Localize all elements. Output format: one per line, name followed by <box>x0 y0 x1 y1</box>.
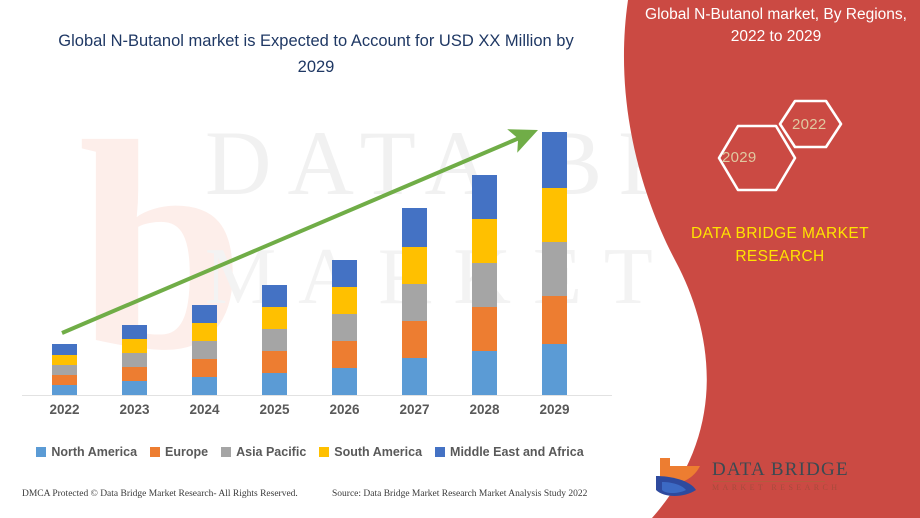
bar-segment-north-america-2022 <box>52 385 77 395</box>
legend-item-south-america[interactable]: South America <box>319 445 422 459</box>
hexagon-badges: 2029 2022 <box>700 96 880 192</box>
bar-segment-asia-pacific-2029 <box>542 242 567 296</box>
bar-2024[interactable] <box>192 305 217 395</box>
hex-label-2029: 2029 <box>722 149 757 166</box>
bar-segment-north-america-2025 <box>262 373 287 395</box>
data-bridge-logo: DATA BRIDGE MARKET RESEARCH <box>650 456 850 506</box>
legend-item-asia-pacific[interactable]: Asia Pacific <box>221 445 306 459</box>
bar-segment-europe-2026 <box>332 341 357 368</box>
x-label-2024: 2024 <box>170 402 240 417</box>
x-axis-baseline <box>22 395 612 396</box>
legend-swatch-south-america <box>319 447 329 457</box>
dmca-notice: DMCA Protected © Data Bridge Market Rese… <box>22 489 298 499</box>
bar-segment-middle-east-and-africa-2027 <box>402 208 427 247</box>
x-axis-labels: 20222023202420252026202720282029 <box>0 402 620 428</box>
bar-segment-europe-2024 <box>192 359 217 377</box>
legend-label-north-america: North America <box>51 445 137 459</box>
bar-segment-europe-2029 <box>542 296 567 344</box>
bar-segment-middle-east-and-africa-2022 <box>52 344 77 355</box>
bar-segment-europe-2023 <box>122 367 147 381</box>
bar-segment-south-america-2022 <box>52 355 77 365</box>
bar-segment-middle-east-and-africa-2025 <box>262 285 287 307</box>
bar-segment-south-america-2025 <box>262 307 287 329</box>
x-label-2027: 2027 <box>380 402 450 417</box>
footer: DMCA Protected © Data Bridge Market Rese… <box>0 485 620 509</box>
bar-2026[interactable] <box>332 260 357 395</box>
bar-segment-south-america-2029 <box>542 188 567 242</box>
bar-segment-middle-east-and-africa-2028 <box>472 175 497 219</box>
brand-line-2: RESEARCH <box>655 245 905 268</box>
bar-segment-north-america-2023 <box>122 381 147 395</box>
logo-divider <box>713 481 825 482</box>
bar-segment-north-america-2028 <box>472 351 497 395</box>
bar-2022[interactable] <box>52 344 77 395</box>
logo-tagline: MARKET RESEARCH <box>712 484 849 492</box>
bar-segment-asia-pacific-2023 <box>122 353 147 367</box>
chart-legend: North AmericaEuropeAsia PacificSouth Ame… <box>0 441 620 463</box>
bar-segment-middle-east-and-africa-2026 <box>332 260 357 287</box>
bar-segment-europe-2028 <box>472 307 497 351</box>
bar-segment-north-america-2024 <box>192 377 217 395</box>
bar-2025[interactable] <box>262 285 287 395</box>
legend-label-asia-pacific: Asia Pacific <box>236 445 306 459</box>
bar-segment-north-america-2027 <box>402 358 427 395</box>
bar-segment-south-america-2023 <box>122 339 147 353</box>
legend-swatch-north-america <box>36 447 46 457</box>
bar-segment-asia-pacific-2025 <box>262 329 287 351</box>
bar-segment-south-america-2027 <box>402 247 427 284</box>
stacked-bar-chart <box>0 0 620 440</box>
bar-segment-asia-pacific-2022 <box>52 365 77 375</box>
bar-2029[interactable] <box>542 132 567 395</box>
bar-2028[interactable] <box>472 175 497 395</box>
brand-line-1: DATA BRIDGE MARKET <box>655 222 905 245</box>
bar-segment-north-america-2026 <box>332 368 357 395</box>
legend-label-europe: Europe <box>165 445 208 459</box>
legend-swatch-europe <box>150 447 160 457</box>
bar-2027[interactable] <box>402 208 427 395</box>
logo-text: DATA BRIDGE MARKET RESEARCH <box>712 460 849 492</box>
x-label-2025: 2025 <box>240 402 310 417</box>
hex-label-2022: 2022 <box>792 116 827 133</box>
bar-segment-europe-2022 <box>52 375 77 385</box>
bar-segment-asia-pacific-2028 <box>472 263 497 307</box>
legend-swatch-asia-pacific <box>221 447 231 457</box>
source-note: Source: Data Bridge Market Research Mark… <box>332 489 587 499</box>
legend-swatch-middle-east-and-africa <box>435 447 445 457</box>
legend-item-north-america[interactable]: North America <box>36 445 137 459</box>
bar-segment-middle-east-and-africa-2024 <box>192 305 217 323</box>
bar-segment-europe-2027 <box>402 321 427 358</box>
bar-segment-asia-pacific-2027 <box>402 284 427 321</box>
x-label-2023: 2023 <box>100 402 170 417</box>
bar-2023[interactable] <box>122 325 147 395</box>
legend-item-middle-east-and-africa[interactable]: Middle East and Africa <box>435 445 584 459</box>
legend-label-south-america: South America <box>334 445 422 459</box>
right-panel-title: Global N-Butanol market, By Regions, 202… <box>640 4 912 49</box>
bar-segment-north-america-2029 <box>542 344 567 395</box>
x-label-2029: 2029 <box>520 402 590 417</box>
bar-segment-south-america-2024 <box>192 323 217 341</box>
bar-segment-asia-pacific-2026 <box>332 314 357 341</box>
legend-item-europe[interactable]: Europe <box>150 445 208 459</box>
bar-segment-europe-2025 <box>262 351 287 373</box>
infographic-root: b DATA BRIDGE MARKET RESEARCH Global N-B… <box>0 0 920 518</box>
bar-segment-middle-east-and-africa-2023 <box>122 325 147 339</box>
bar-segment-middle-east-and-africa-2029 <box>542 132 567 188</box>
legend-label-middle-east-and-africa: Middle East and Africa <box>450 445 584 459</box>
x-label-2028: 2028 <box>450 402 520 417</box>
brand-name: DATA BRIDGE MARKET RESEARCH <box>655 222 905 269</box>
logo-name: DATA BRIDGE <box>712 460 849 479</box>
bar-segment-south-america-2028 <box>472 219 497 263</box>
bar-segment-asia-pacific-2024 <box>192 341 217 359</box>
bar-segment-south-america-2026 <box>332 287 357 314</box>
x-label-2022: 2022 <box>30 402 100 417</box>
logo-b-mark-icon <box>650 456 708 502</box>
x-label-2026: 2026 <box>310 402 380 417</box>
